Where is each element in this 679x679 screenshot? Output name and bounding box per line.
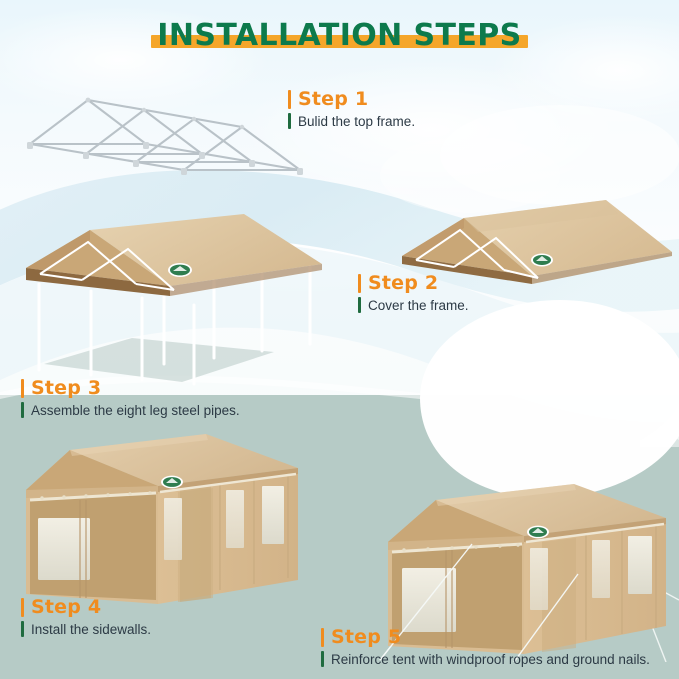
step-block-3: Step 3 Assemble the eight leg steel pipe…	[21, 377, 240, 418]
step-number-label: Step 5	[331, 626, 401, 648]
mesh-window	[592, 540, 610, 598]
step-accent-bar	[321, 628, 324, 647]
step-accent-bar	[21, 379, 24, 398]
step-desc-bar	[21, 402, 24, 418]
step-description: Bulid the top frame.	[298, 114, 415, 129]
brand-logo-badge	[168, 263, 192, 277]
step-accent-bar	[21, 598, 24, 617]
illustration-steel-frame	[18, 82, 308, 187]
step-accent-bar	[288, 90, 291, 109]
step-description: Cover the frame.	[368, 298, 469, 313]
mesh-window	[164, 498, 182, 560]
title-text: INSTALLATION STEPS	[157, 18, 521, 53]
step-block-1: Step 1 Bulid the top frame.	[288, 88, 415, 129]
step-accent-bar	[358, 274, 361, 293]
step-description: Reinforce tent with windproof ropes and …	[331, 652, 650, 667]
illustration-canopy-eight-legs	[12, 212, 342, 387]
step-block-4: Step 4 Install the sidewalls.	[21, 596, 151, 637]
step-number-label: Step 2	[368, 272, 438, 294]
mesh-window	[226, 490, 244, 548]
step-desc-bar	[288, 113, 291, 129]
brand-logo-badge	[531, 254, 553, 267]
window-panel	[38, 518, 90, 580]
step-block-2: Step 2 Cover the frame.	[358, 272, 469, 313]
brand-logo-badge	[161, 476, 183, 489]
step-number-label: Step 1	[298, 88, 368, 110]
mesh-window	[530, 548, 548, 610]
illustration-carport-sidewalls	[8, 428, 313, 608]
window-panel	[628, 536, 652, 594]
step-number-label: Step 4	[31, 596, 101, 618]
step-desc-bar	[21, 621, 24, 637]
step-description: Assemble the eight leg steel pipes.	[31, 403, 240, 418]
step-desc-bar	[358, 297, 361, 313]
step-block-5: Step 5 Reinforce tent with windproof rop…	[321, 626, 650, 667]
page-title: INSTALLATION STEPS	[0, 18, 679, 53]
step-desc-bar	[321, 651, 324, 667]
step-number-label: Step 3	[31, 377, 101, 399]
window-panel	[262, 486, 284, 544]
installation-steps-infographic: INSTALLATION STEPS	[0, 0, 679, 679]
brand-logo-badge	[527, 526, 549, 539]
step-description: Install the sidewalls.	[31, 622, 151, 637]
